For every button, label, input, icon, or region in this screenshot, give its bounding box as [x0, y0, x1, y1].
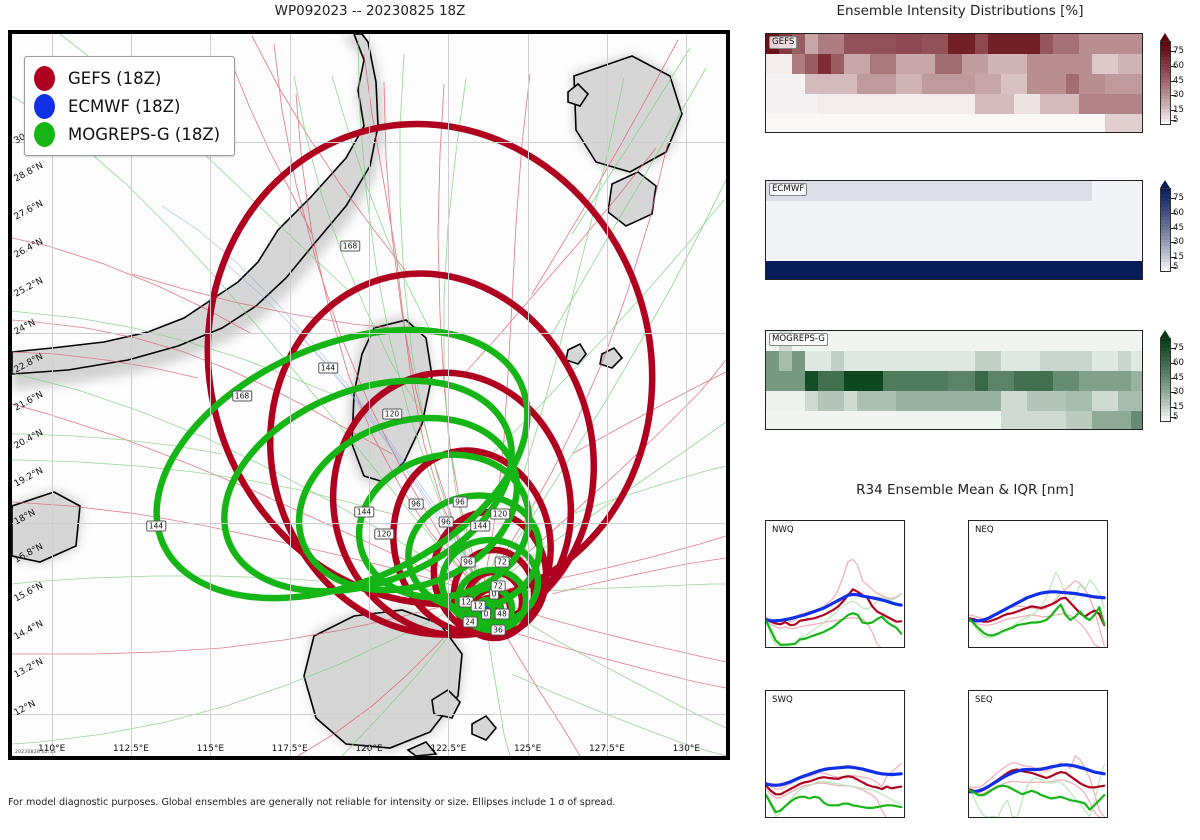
r34-panel-label: NWQ	[770, 525, 796, 536]
heatmap-y-tick	[765, 251, 766, 252]
heatmap-cell	[1001, 201, 1015, 222]
heatmap-cell	[766, 351, 780, 372]
heatmap-cell	[948, 221, 962, 242]
heatmap-panel-label: GEFS	[769, 36, 797, 49]
r34-y-tick	[1107, 712, 1108, 713]
heatmap-cell	[1027, 201, 1041, 222]
r34-lines	[766, 691, 905, 818]
heatmap-cell	[870, 54, 884, 75]
heatmap-cell	[962, 221, 976, 242]
longitude-tick-label: 115°E	[197, 744, 224, 754]
heatmap-cell	[922, 261, 936, 280]
legend-label-ecmwf: ECMWF (18Z)	[68, 97, 180, 116]
r34-y-tick	[765, 734, 766, 735]
heatmap-cell	[988, 221, 1002, 242]
heatmap-cell	[1131, 331, 1143, 352]
heatmap-cell	[1131, 241, 1143, 262]
heatmap-cell	[1053, 94, 1067, 115]
heatmap-cell	[975, 331, 989, 352]
heatmap-cell	[1092, 34, 1106, 55]
r34-y-tick	[765, 585, 766, 586]
heatmap-cell	[1105, 391, 1119, 412]
colorbar-border	[1160, 338, 1171, 422]
track-map[interactable]: 110°E112.5°E115°E117.5°E120°E122.5°E125°…	[8, 30, 730, 760]
heatmap-cell	[948, 34, 962, 55]
heatmap-cell	[1014, 201, 1028, 222]
heatmap-cell	[1040, 261, 1054, 280]
colorbar-tick	[1171, 81, 1176, 82]
r34-x-tick	[901, 817, 902, 818]
ellipse-hour-label: 144	[318, 363, 338, 374]
heatmap-cell	[870, 331, 884, 352]
r34-x-tick	[805, 817, 806, 818]
heatmap-cell	[896, 331, 910, 352]
heatmap-cell	[1027, 331, 1041, 352]
heatmap-cell	[883, 54, 897, 75]
heatmap-cell	[792, 201, 806, 222]
heatmap-cell	[805, 241, 819, 262]
heatmap-cell	[1001, 331, 1015, 352]
heatmap-cell	[1040, 181, 1054, 202]
heatmap-x-tick	[926, 279, 927, 280]
heatmap-cell	[1014, 54, 1028, 75]
heatmap-cell	[831, 54, 845, 75]
ellipse-hour-label: 168	[340, 241, 360, 252]
heatmap-cell	[1131, 221, 1143, 242]
heatmap-cell	[962, 74, 976, 95]
heatmap-cell	[962, 261, 976, 280]
heatmap-cell	[844, 261, 858, 280]
heatmap-section-title: Ensemble Intensity Distributions [%]	[740, 3, 1180, 19]
heatmap-cell	[896, 351, 910, 372]
heatmap-cell	[935, 201, 949, 222]
heatmap-cell	[922, 351, 936, 372]
heatmap-cell	[857, 221, 871, 242]
heatmap-cell	[1118, 34, 1132, 55]
heatmap-cell	[896, 181, 910, 202]
colorbar-arrow-bottom	[1160, 422, 1170, 430]
heatmap-cell	[831, 331, 845, 352]
heatmap-cell	[831, 391, 845, 412]
heatmap-cell	[1131, 54, 1143, 75]
heatmap-cell	[1014, 221, 1028, 242]
heatmap-cell	[792, 371, 806, 392]
heatmap-cell	[1105, 181, 1119, 202]
heatmap-cell	[818, 114, 832, 133]
heatmap-cell	[1053, 34, 1067, 55]
heatmap-cell	[870, 411, 884, 430]
heatmap-cell	[1131, 94, 1143, 115]
heatmap-cell	[883, 221, 897, 242]
heatmap-y-tick	[765, 191, 766, 192]
heatmap-cell	[766, 221, 780, 242]
heatmap-cell	[1053, 371, 1067, 392]
heatmap-cell	[792, 261, 806, 280]
heatmap-cell	[1079, 351, 1093, 372]
r34-y-tick	[1107, 542, 1108, 543]
r34-section-title: R34 Ensemble Mean & IQR [nm]	[740, 482, 1190, 498]
heatmap-cell	[844, 391, 858, 412]
heatmap-cell	[948, 94, 962, 115]
heatmap-cell	[935, 221, 949, 242]
r34-x-tick	[843, 817, 844, 818]
r34-panel-label: SWQ	[770, 695, 795, 706]
heatmap-cell	[1066, 74, 1080, 95]
r34-x-tick	[1104, 817, 1105, 818]
heatmap-cell	[831, 221, 845, 242]
heatmap-cell	[988, 181, 1002, 202]
heatmap-cell	[1027, 351, 1041, 372]
r34-y-tick	[1107, 755, 1108, 756]
heatmap-cell	[909, 261, 923, 280]
heatmap-cell	[1027, 94, 1041, 115]
r34-y-tick	[765, 628, 766, 629]
heatmap-cell	[1131, 371, 1143, 392]
heatmap-cell	[1014, 34, 1028, 55]
heatmap-cell	[1053, 181, 1067, 202]
heatmap-cell	[988, 74, 1002, 95]
longitude-tick-label: 122.5°E	[430, 744, 466, 754]
heatmap-cell	[805, 371, 819, 392]
heatmap-cell	[1118, 331, 1132, 352]
heatmap-x-tick	[875, 279, 876, 280]
heatmap-cell	[1092, 391, 1106, 412]
heatmap-cell	[975, 181, 989, 202]
heatmap-cell	[779, 74, 793, 95]
heatmap-cell	[975, 201, 989, 222]
gridline-horizontal	[12, 333, 726, 334]
heatmap-cell	[1014, 94, 1028, 115]
r34-x-tick	[1085, 817, 1086, 818]
heatmap-cell	[870, 261, 884, 280]
r34-x-tick	[843, 647, 844, 648]
heatmap-cell	[883, 241, 897, 262]
heatmap-cell	[922, 241, 936, 262]
heatmap-cell	[1066, 34, 1080, 55]
r34-x-tick	[882, 817, 883, 818]
longitude-tick-label: 112.5°E	[113, 744, 149, 754]
gridline-horizontal	[12, 714, 726, 715]
heatmap-cell	[1014, 181, 1028, 202]
heatmap-cell	[962, 411, 976, 430]
heatmap-cell	[909, 411, 923, 430]
heatmap-cell	[870, 181, 884, 202]
heatmap-cell	[831, 261, 845, 280]
heatmap-gefs[interactable]: GEFS64+50-6434-50<34lost0122436486072849…	[765, 33, 1143, 133]
legend-item-gefs[interactable]: GEFS (18Z)	[34, 64, 220, 92]
r34-x-tick	[1008, 647, 1009, 648]
colorbar-mogreps-g[interactable]: 75604530155	[1160, 338, 1171, 422]
heatmap-cell	[818, 201, 832, 222]
heatmap-cell	[1105, 94, 1119, 115]
heatmap-x-tick	[1029, 132, 1030, 133]
heatmap-cell	[1053, 351, 1067, 372]
heatmap-cell	[1066, 54, 1080, 75]
heatmap-cell	[870, 371, 884, 392]
heatmap-cell	[1079, 221, 1093, 242]
heatmap-cell	[909, 114, 923, 133]
heatmap-ecmwf[interactable]: ECMWF64+50-6434-50<34lost012243648607284…	[765, 180, 1143, 280]
heatmap-cell	[805, 261, 819, 280]
heatmap-x-tick	[849, 132, 850, 133]
heatmap-cell	[1118, 261, 1132, 280]
heatmap-cell	[1131, 34, 1143, 55]
ellipse-hour-label: 48	[495, 609, 510, 620]
heatmap-cell	[988, 94, 1002, 115]
heatmap-cell	[1040, 114, 1054, 133]
heatmap-cell	[779, 201, 793, 222]
heatmap-cell	[1079, 54, 1093, 75]
heatmap-x-tick	[798, 132, 799, 133]
heatmap-cell	[844, 371, 858, 392]
r34-x-tick	[1027, 817, 1028, 818]
heatmap-x-tick	[977, 279, 978, 280]
heatmap-cell	[1131, 114, 1143, 133]
r34-chart-seq[interactable]: SEQ050100150200250300024487296120144168	[968, 690, 1108, 818]
heatmap-x-tick	[824, 279, 825, 280]
colorbar-tick	[1171, 242, 1176, 243]
r34-x-tick	[785, 647, 786, 648]
ellipse-hour-label: 120	[490, 509, 510, 520]
heatmap-x-tick	[952, 132, 953, 133]
heatmap-y-tick	[765, 44, 766, 45]
heatmap-cell	[988, 371, 1002, 392]
heatmap-cell	[1001, 34, 1015, 55]
heatmap-cell	[844, 411, 858, 430]
r34-y-tick	[1107, 776, 1108, 777]
heatmap-cell	[909, 391, 923, 412]
heatmap-cell	[896, 201, 910, 222]
r34-y-tick	[765, 564, 766, 565]
r34-y-tick	[1107, 606, 1108, 607]
heatmap-cell	[896, 371, 910, 392]
heatmap-cell	[988, 34, 1002, 55]
r34-x-tick	[969, 647, 970, 648]
heatmap-cell	[1001, 261, 1015, 280]
heatmap-x-tick	[824, 429, 825, 430]
heatmap-cell	[988, 241, 1002, 262]
ellipse-hour-label: 96	[409, 499, 424, 510]
heatmap-cell	[1079, 331, 1093, 352]
r34-x-tick	[1085, 647, 1086, 648]
heatmap-cell	[779, 94, 793, 115]
heatmap-cell	[779, 371, 793, 392]
heatmap-cell	[1027, 221, 1041, 242]
r34-x-tick	[1066, 647, 1067, 648]
r34-x-tick	[863, 647, 864, 648]
heatmap-cell	[988, 201, 1002, 222]
heatmap-cell	[1001, 241, 1015, 262]
r34-x-tick	[1046, 647, 1047, 648]
heatmap-cell	[922, 34, 936, 55]
heatmap-cell	[1014, 241, 1028, 262]
heatmap-cell	[766, 94, 780, 115]
heatmap-cell	[935, 94, 949, 115]
r34-y-tick	[1107, 564, 1108, 565]
heatmap-cell	[1105, 331, 1119, 352]
heatmap-x-tick	[952, 279, 953, 280]
heatmap-cell	[909, 351, 923, 372]
colorbar-tick	[1171, 257, 1176, 258]
r34-y-tick	[765, 521, 766, 522]
heatmap-x-tick	[1131, 429, 1132, 430]
heatmap-cell	[818, 181, 832, 202]
heatmap-cell	[975, 74, 989, 95]
render-timestamp: 20230826 02:13	[15, 750, 56, 755]
heatmap-y-tick	[765, 104, 766, 105]
colorbar-ecmwf[interactable]: 75604530155	[1160, 188, 1171, 272]
ellipse-hour-label: 72	[491, 581, 506, 592]
colorbar-arrow-top	[1160, 33, 1170, 41]
heatmap-cell	[1131, 74, 1143, 95]
heatmap-cell	[831, 371, 845, 392]
heatmap-cell	[870, 391, 884, 412]
series-line	[969, 770, 1104, 792]
heatmap-cell	[1014, 371, 1028, 392]
heatmap-cell	[857, 391, 871, 412]
heatmap-cell	[831, 411, 845, 430]
longitude-tick-label: 117.5°E	[272, 744, 308, 754]
heatmap-cell	[805, 114, 819, 133]
heatmap-cell	[909, 181, 923, 202]
heatmap-cell	[831, 114, 845, 133]
r34-lines	[969, 521, 1108, 648]
heatmap-cell	[922, 391, 936, 412]
heatmap-cell	[922, 331, 936, 352]
heatmap-cell	[988, 331, 1002, 352]
heatmap-mogreps-g[interactable]: MOGREPS-G64+50-6434-50<34lost01224364860…	[765, 330, 1143, 430]
heatmap-x-tick	[952, 429, 953, 430]
heatmap-cell	[1053, 261, 1067, 280]
heatmap-cell	[909, 74, 923, 95]
heatmap-cell	[962, 241, 976, 262]
heatmap-cell	[962, 391, 976, 412]
heatmap-cell	[779, 411, 793, 430]
heatmap-cell	[1079, 371, 1093, 392]
heatmap-cell	[1027, 181, 1041, 202]
colorbar-tick	[1171, 417, 1176, 418]
heatmap-cell	[1066, 94, 1080, 115]
heatmap-cell	[1040, 391, 1054, 412]
heatmap-cell	[1105, 351, 1119, 372]
heatmap-cell	[818, 94, 832, 115]
heatmap-cell	[818, 241, 832, 262]
heatmap-cell	[1118, 391, 1132, 412]
longitude-tick-label: 125°E	[514, 744, 541, 754]
heatmap-cell	[1092, 221, 1106, 242]
ellipse-hour-label: 96	[453, 497, 468, 508]
colorbar-tick	[1171, 95, 1176, 96]
heatmap-cell	[831, 34, 845, 55]
heatmap-cell	[870, 114, 884, 133]
heatmap-cell	[1027, 261, 1041, 280]
r34-chart-neq[interactable]: NEQ050100150200250300024487296120144168	[968, 520, 1108, 648]
heatmap-y-tick	[765, 361, 766, 362]
heatmap-cell	[844, 34, 858, 55]
heatmap-cell	[1053, 54, 1067, 75]
ellipse-hour-label: 120	[374, 529, 394, 540]
heatmap-cell	[792, 411, 806, 430]
heatmap-cell	[1092, 241, 1106, 262]
heatmap-cell	[975, 241, 989, 262]
heatmap-cell	[896, 114, 910, 133]
ellipse-hour-label: 24	[463, 617, 478, 628]
legend-item-ecmwf[interactable]: ECMWF (18Z)	[34, 92, 220, 120]
heatmap-cell	[1014, 331, 1028, 352]
heatmap-cell	[831, 351, 845, 372]
heatmap-cell	[1040, 221, 1054, 242]
legend-item-mogreps[interactable]: MOGREPS-G (18Z)	[34, 120, 220, 148]
heatmap-cell	[1040, 351, 1054, 372]
heatmap-cell	[779, 114, 793, 133]
heatmap-cell	[922, 201, 936, 222]
heatmap-x-tick	[1080, 279, 1081, 280]
heatmap-cell	[1040, 34, 1054, 55]
heatmap-cell	[792, 351, 806, 372]
colorbar-gefs[interactable]: 75604530155	[1160, 41, 1171, 125]
heatmap-cell	[818, 411, 832, 430]
heatmap-cell	[896, 241, 910, 262]
heatmap-cell	[766, 391, 780, 412]
heatmap-cell	[975, 114, 989, 133]
heatmap-cell	[857, 261, 871, 280]
heatmap-cell	[988, 114, 1002, 133]
heatmap-cell	[1027, 114, 1041, 133]
heatmap-cell	[935, 241, 949, 262]
heatmap-x-tick	[875, 132, 876, 133]
heatmap-cell	[1105, 221, 1119, 242]
r34-chart-nwq[interactable]: NWQ050100150200250300024487296120144168	[765, 520, 905, 648]
heatmap-cell	[1040, 54, 1054, 75]
r34-x-tick	[766, 647, 767, 648]
heatmap-cell	[1092, 371, 1106, 392]
heatmap-cell	[922, 371, 936, 392]
heatmap-cell	[1040, 371, 1054, 392]
r34-chart-swq[interactable]: SWQ050100150200250300024487296120144168	[765, 690, 905, 818]
heatmap-cell	[1118, 54, 1132, 75]
heatmap-y-tick	[765, 381, 766, 382]
ecmwf-color-dot	[34, 94, 55, 119]
heatmap-cell	[870, 74, 884, 95]
heatmap-cell	[1079, 411, 1093, 430]
r34-x-tick	[824, 817, 825, 818]
heatmap-cell	[962, 114, 976, 133]
r34-y-tick	[1107, 521, 1108, 522]
heatmap-x-tick	[1080, 132, 1081, 133]
heatmap-cell	[1079, 74, 1093, 95]
r34-y-tick	[765, 798, 766, 799]
heatmap-y-tick	[765, 401, 766, 402]
heatmap-cell	[818, 54, 832, 75]
heatmap-cell	[1092, 74, 1106, 95]
heatmap-cell	[975, 54, 989, 75]
heatmap-cell	[792, 391, 806, 412]
heatmap-cell	[1066, 411, 1080, 430]
heatmap-x-tick	[926, 429, 927, 430]
heatmap-cell	[1118, 371, 1132, 392]
heatmap-cell	[818, 391, 832, 412]
heatmap-cell	[1105, 411, 1119, 430]
heatmap-cell	[857, 34, 871, 55]
heatmap-cell	[1014, 351, 1028, 372]
heatmap-cell	[1014, 411, 1028, 430]
heatmap-y-tick	[765, 84, 766, 85]
longitude-tick-label: 120°E	[355, 744, 382, 754]
heatmap-cell	[818, 221, 832, 242]
heatmap-cell	[1105, 241, 1119, 262]
heatmap-cell	[805, 181, 819, 202]
heatmap-cell	[805, 391, 819, 412]
